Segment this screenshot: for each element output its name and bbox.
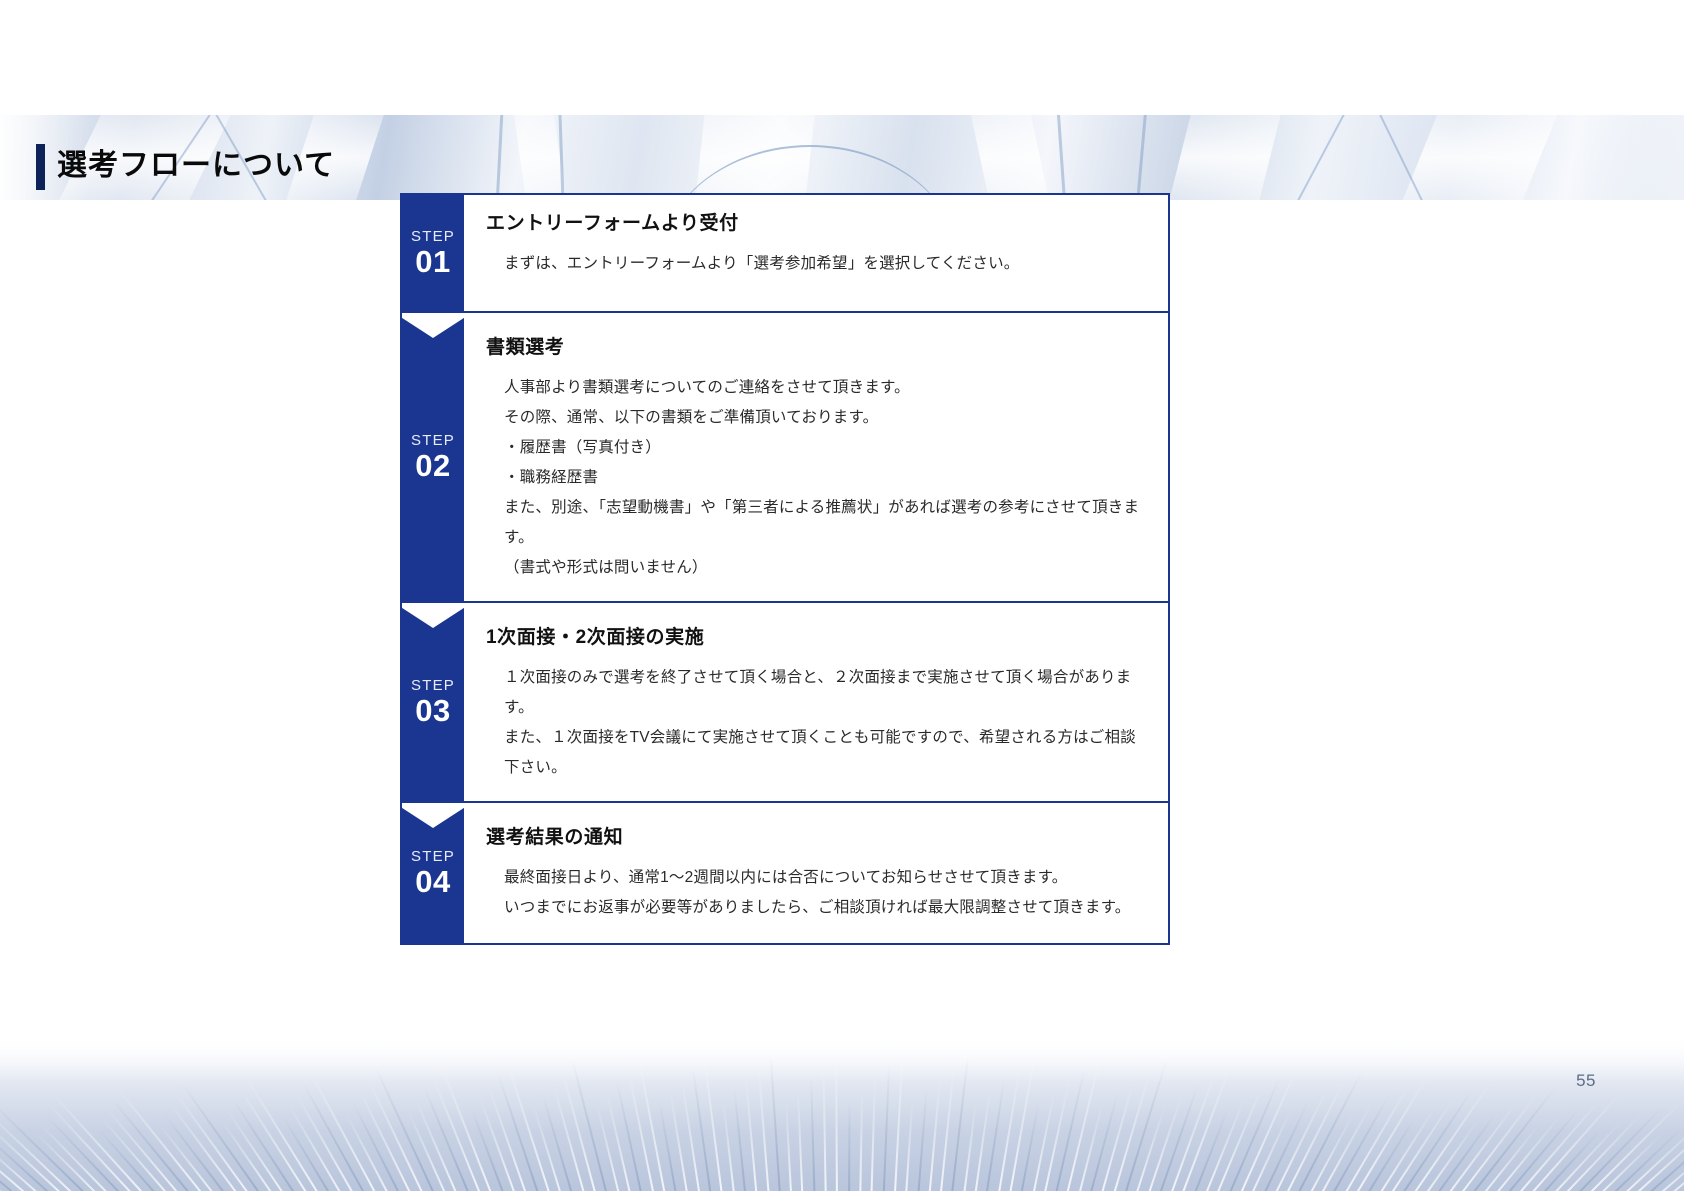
- step-badge-02: STEP 02: [402, 313, 464, 601]
- banner-ray: [882, 1065, 890, 1191]
- step-body-04: 選考結果の通知 最終面接日より、通常1～2週間以内には合否についてお知らせさせて…: [464, 803, 1168, 943]
- step-badge-03: STEP 03: [402, 603, 464, 801]
- step-word-label: STEP: [411, 848, 455, 865]
- step-word-label: STEP: [411, 228, 455, 245]
- step-lines: まずは、エントリーフォームより「選考参加希望」を選択してください。: [486, 249, 1146, 279]
- bottom-banner-image: [0, 1036, 1684, 1191]
- step-body-03: 1次面接・2次面接の実施 １次面接のみで選考を終了させて頂く場合と、２次面接まで…: [464, 603, 1168, 801]
- step-number-label: 04: [415, 865, 450, 898]
- banner-ray: [797, 1089, 804, 1191]
- banner-ray: [904, 1101, 913, 1191]
- title-accent-rule: [36, 144, 45, 190]
- banner-ray: [733, 1090, 748, 1191]
- banner-ray: [375, 1067, 443, 1191]
- step-lines: １次面接のみで選考を終了させて頂く場合と、２次面接まで実施させて頂く場合がありま…: [486, 663, 1146, 783]
- banner-ray: [1029, 1091, 1055, 1191]
- step-badge-04: STEP 04: [402, 803, 464, 943]
- step-heading: 選考結果の通知: [486, 825, 1146, 851]
- step-heading: エントリーフォームより受付: [486, 211, 1146, 237]
- step-word-label: STEP: [411, 432, 455, 449]
- chevron-down-icon: [402, 313, 464, 342]
- step-lines: 人事部より書類選考についてのご連絡をさせて頂きます。 その際、通常、以下の書類を…: [486, 373, 1146, 583]
- banner-ray: [785, 1101, 793, 1191]
- step-lines: 最終面接日より、通常1～2週間以内には合否についてお知らせさせて頂きます。 いつ…: [486, 863, 1146, 923]
- step-heading: 書類選考: [486, 335, 1146, 361]
- banner-ray: [961, 1102, 977, 1191]
- banner-ray: [822, 1065, 827, 1191]
- banner-ray: [1277, 1080, 1345, 1191]
- banner-ray: [757, 1065, 770, 1191]
- step-word-label: STEP: [411, 677, 455, 694]
- banner-ray: [848, 1101, 851, 1191]
- flow-step-row: STEP 03 1次面接・2次面接の実施 １次面接のみで選考を終了させて頂く場合…: [402, 603, 1168, 803]
- banner-ray: [870, 1077, 876, 1191]
- step-line: ・職務経歴書: [504, 463, 1146, 493]
- banner-ray: [722, 1102, 737, 1191]
- banner-ray: [1289, 1071, 1364, 1191]
- slide: 選考フローについて STEP 01 エントリーフォームより受付 まずは、エントリ…: [0, 0, 1684, 1191]
- banner-ray: [470, 1108, 511, 1191]
- step-line: 人事部より書類選考についてのご連絡をさせて頂きます。: [504, 373, 1146, 403]
- step-line: いつまでにお返事が必要等がありましたら、ご相談頂ければ最大限調整させて頂きます。: [504, 893, 1146, 923]
- chevron-down-icon: [402, 803, 464, 832]
- step-body-02: 書類選考 人事部より書類選考についてのご連絡をさせて頂きます。 その際、通常、以…: [464, 313, 1168, 601]
- banner-ray: [927, 1077, 941, 1191]
- step-line: その際、通常、以下の書類をご準備頂いております。: [504, 403, 1146, 433]
- banner-ray: [1322, 1094, 1390, 1191]
- step-body-01: エントリーフォームより受付 まずは、エントリーフォームより「選考参加希望」を選択…: [464, 195, 1168, 311]
- flow-step-row: STEP 01 エントリーフォームより受付 まずは、エントリーフォームより「選考…: [402, 195, 1168, 313]
- flow-step-row: STEP 02 書類選考 人事部より書類選考についてのご連絡をさせて頂きます。 …: [402, 313, 1168, 603]
- chevron-down-icon: [402, 603, 464, 632]
- step-badge-01: STEP 01: [402, 195, 464, 311]
- step-number-label: 03: [415, 694, 450, 727]
- step-line: 最終面接日より、通常1～2週間以内には合否についてお知らせさせて頂きます。: [504, 863, 1146, 893]
- step-line: また、別途、「志望動機書」や「第三者による推薦状」があれば選考の参考にさせて頂き…: [504, 493, 1146, 553]
- page-title: 選考フローについて: [57, 144, 335, 188]
- step-line: まずは、エントリーフォームより「選考参加希望」を選択してください。: [504, 249, 1146, 279]
- page-number: 55: [1576, 1071, 1596, 1091]
- step-line: また、１次面接をTV会議にて実施させて頂くことも可能ですので、希望される方はご相…: [504, 723, 1146, 783]
- banner-ray: [310, 1071, 387, 1191]
- banner-ray: [916, 1089, 928, 1191]
- step-number-label: 01: [415, 245, 450, 278]
- step-heading: 1次面接・2次面接の実施: [486, 625, 1146, 651]
- banner-ray: [810, 1077, 816, 1191]
- selection-flow-table: STEP 01 エントリーフォームより受付 まずは、エントリーフォームより「選考…: [400, 193, 1170, 945]
- step-number-label: 02: [415, 449, 450, 482]
- banner-ray: [995, 1067, 1021, 1191]
- step-line: ・履歴書（写真付き）: [504, 433, 1146, 463]
- banner-ray: [745, 1077, 759, 1191]
- step-line: （書式や形式は問いません）: [504, 553, 1146, 583]
- flow-step-row: STEP 04 選考結果の通知 最終面接日より、通常1～2週間以内には合否につい…: [402, 803, 1168, 943]
- banner-ray: [1232, 1066, 1298, 1191]
- banner-ray: [859, 1089, 863, 1191]
- page-title-group: 選考フローについて: [36, 144, 335, 190]
- step-line: １次面接のみで選考を終了させて頂く場合と、２次面接まで実施させて頂く場合がありま…: [504, 663, 1146, 723]
